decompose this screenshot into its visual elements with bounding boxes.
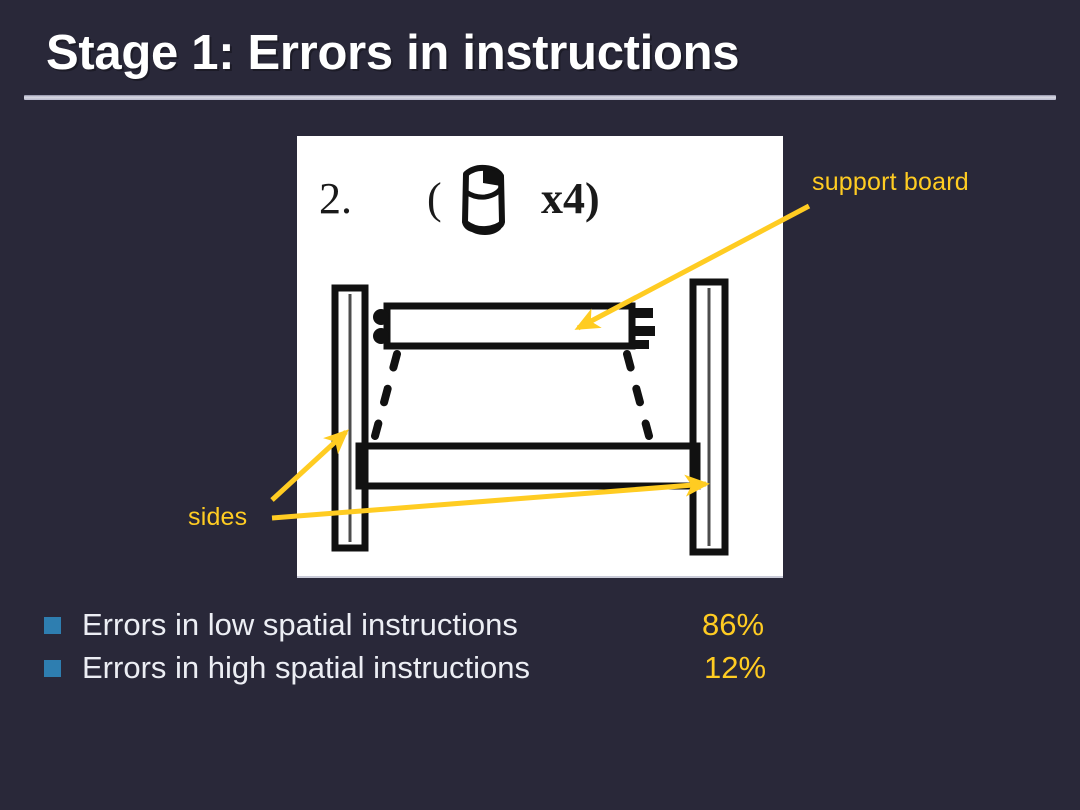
slide: Stage 1: Errors in instructions 2. ( x4) bbox=[0, 0, 1080, 810]
dowel-bolt-icon bbox=[465, 168, 502, 235]
insertion-guide-lines bbox=[375, 354, 649, 436]
lower-rail-part bbox=[359, 446, 697, 486]
right-side-panel bbox=[693, 282, 725, 552]
left-side-panel bbox=[335, 288, 365, 548]
result-value: 12% bbox=[704, 650, 766, 686]
result-value: 86% bbox=[702, 607, 764, 643]
results-list: Errors in low spatial instructions 86% E… bbox=[44, 605, 804, 691]
bullet-square-icon bbox=[44, 617, 61, 634]
annotation-label-sides: sides bbox=[188, 503, 247, 532]
quantity-text: x4) bbox=[541, 174, 600, 223]
support-board-part bbox=[373, 306, 655, 349]
result-label: Errors in high spatial instructions bbox=[82, 650, 530, 686]
instruction-figure-panel: 2. ( x4) bbox=[297, 136, 783, 576]
annotation-label-support-board: support board bbox=[812, 168, 969, 197]
step-number-text: 2. bbox=[319, 174, 352, 223]
paren-open-text: ( bbox=[427, 174, 442, 223]
list-item: Errors in high spatial instructions 12% bbox=[44, 648, 804, 688]
result-label: Errors in low spatial instructions bbox=[82, 607, 518, 643]
title-divider bbox=[24, 95, 1056, 100]
support-board-right-pegs bbox=[631, 308, 655, 349]
page-title: Stage 1: Errors in instructions bbox=[46, 25, 739, 81]
assembly-drawing: 2. ( x4) bbox=[297, 136, 783, 576]
list-item: Errors in low spatial instructions 86% bbox=[44, 605, 804, 645]
bullet-square-icon bbox=[44, 660, 61, 677]
